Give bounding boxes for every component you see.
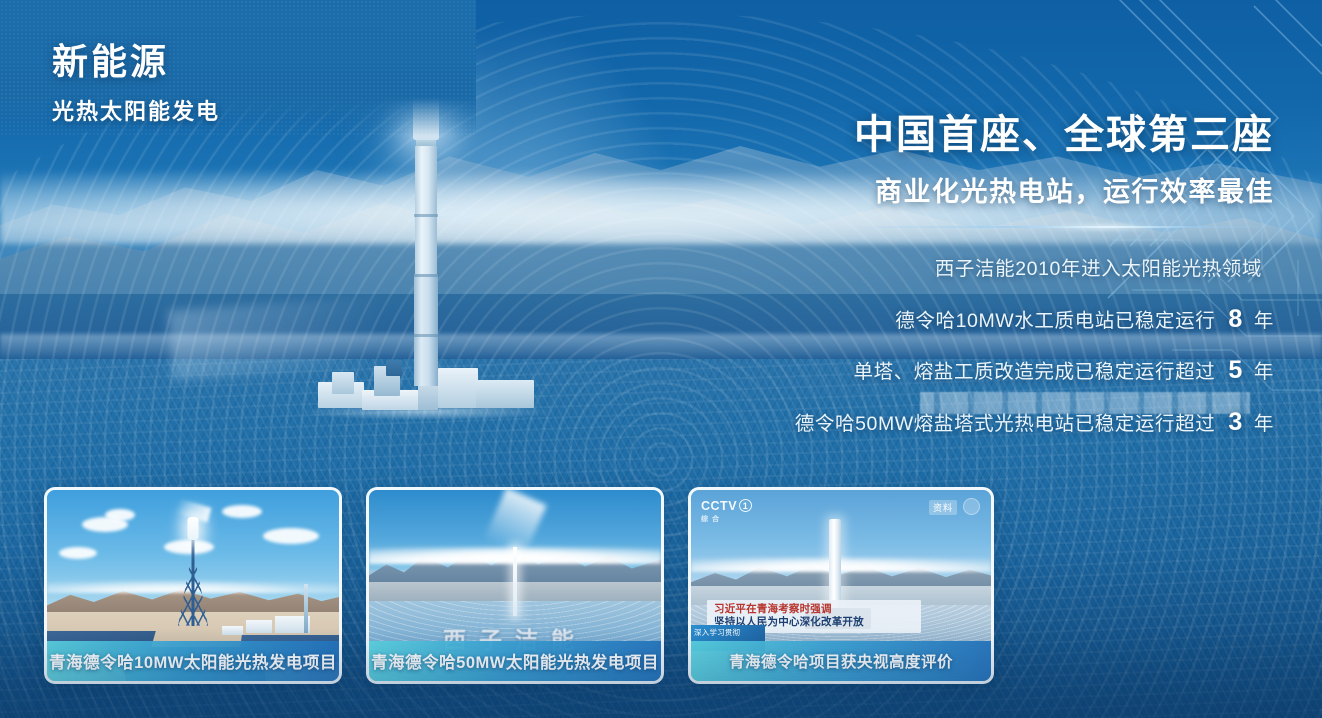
bottom-vignette [0, 628, 1322, 718]
bullet-text: 德令哈10MW水工质电站已稳定运行 [895, 310, 1215, 332]
bullet-number: 5 [1221, 356, 1248, 384]
slide-title-block: 新能源 光热太阳能发电 [52, 33, 220, 126]
building [476, 380, 534, 408]
chyron-line-1: 习近平在青海考察时强调 [714, 603, 914, 616]
cloud [164, 540, 214, 554]
tower-band [414, 274, 438, 277]
headline-main: 中国首座、全球第三座 [614, 112, 1274, 159]
list-item: 西子洁能2010年进入太阳能光热领域 [614, 242, 1274, 294]
bullet-number: 8 [1221, 305, 1248, 333]
cctv-channel-name: 综合 [701, 514, 752, 524]
page-subtitle: 光热太阳能发电 [52, 94, 220, 126]
cctv-logo-text: CCTV [701, 499, 737, 513]
building [438, 368, 478, 408]
archive-badge: 资料 [929, 500, 957, 515]
bullet-text: 德令哈50MW熔盐塔式光热电站已稳定运行超过 [795, 413, 1216, 435]
bullet-text: 西子洁能2010年进入太阳能光热领域 [935, 258, 1262, 280]
headline-block: 中国首座、全球第三座 商业化光热电站，运行效率最佳 西子洁能2010年进入太阳能… [614, 112, 1274, 448]
bullet-unit: 年 [1254, 361, 1274, 383]
building [332, 372, 354, 394]
cctv-logo: CCTV1 综合 [701, 499, 752, 524]
list-item: 德令哈10MW水工质电站已稳定运行 8 年 [614, 294, 1274, 346]
tower-shaft-upper [415, 146, 437, 274]
headline-divider [844, 226, 1274, 228]
bullet-unit: 年 [1254, 310, 1274, 332]
bullet-list: 西子洁能2010年进入太阳能光热领域 德令哈10MW水工质电站已稳定运行 8 年… [614, 242, 1274, 448]
cctv-channel-number: 1 [739, 499, 752, 512]
bullet-number: 3 [1221, 408, 1248, 436]
tower-band [414, 334, 438, 337]
building-roof-blue [386, 360, 402, 376]
bullet-number [1262, 253, 1274, 281]
bullet-unit: 年 [1254, 413, 1274, 435]
card3-snow [691, 551, 991, 572]
watermark-circle-icon [963, 498, 980, 515]
tower-band [414, 214, 438, 217]
page-title: 新能源 [52, 33, 220, 85]
list-item: 德令哈50MW熔盐塔式光热电站已稳定运行超过 3 年 [614, 397, 1274, 449]
tower-shaft-lower [414, 274, 438, 386]
card1-receiver [188, 517, 199, 540]
list-item: 单塔、熔盐工质改造完成已稳定运行超过 5 年 [614, 345, 1274, 397]
secondary-tower [304, 584, 308, 634]
bullet-text: 单塔、熔盐工质改造完成已稳定运行超过 [854, 361, 1216, 383]
slide-canvas: 新能源 光热太阳能发电 中国首座、全球第三座 商业化光热电站，运行效率最佳 西子… [0, 0, 1322, 718]
headline-sub: 商业化光热电站，运行效率最佳 [614, 170, 1274, 209]
card2-tower [513, 547, 517, 616]
